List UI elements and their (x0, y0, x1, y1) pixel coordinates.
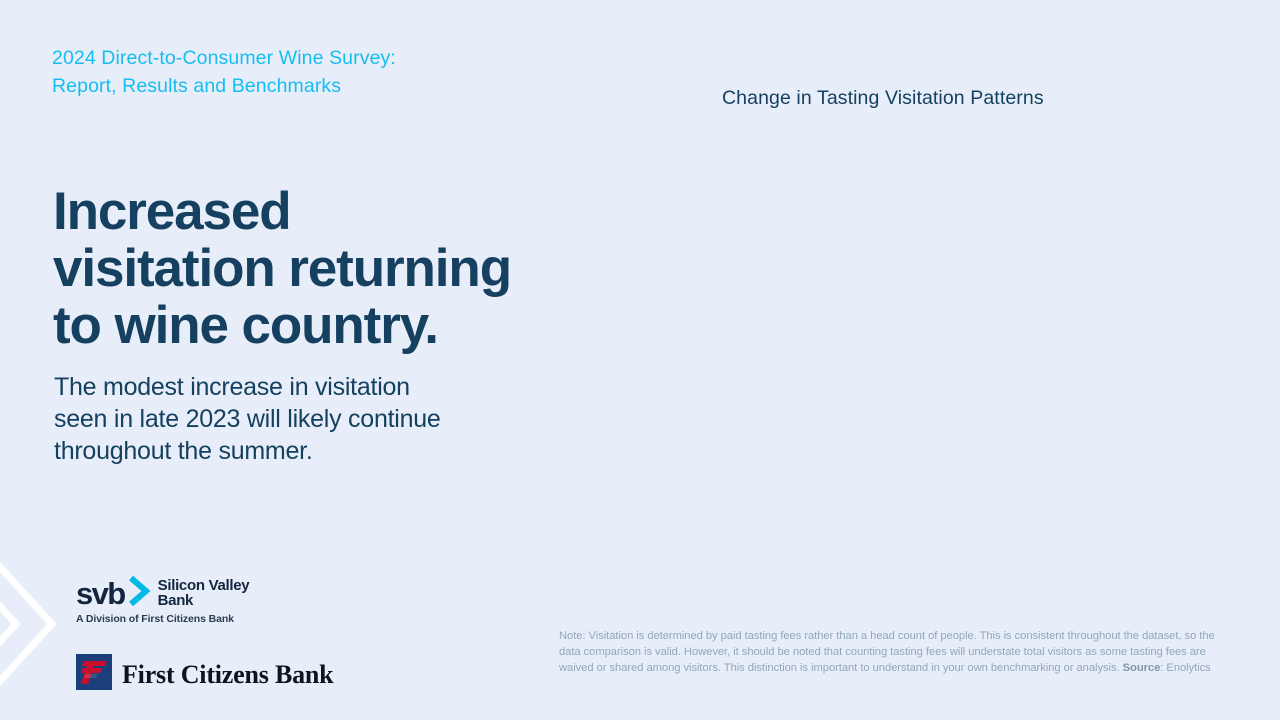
footnote-source-value: Enolytics (1166, 662, 1210, 674)
deck-text: The modest increase in visitation seen i… (54, 371, 504, 467)
slide-canvas: 2024 Direct-to-Consumer Wine Survey: Rep… (0, 0, 1280, 720)
headline-line-3: to wine country. (53, 297, 523, 354)
headline-line-1: Increased (53, 183, 523, 240)
deck-line-3: throughout the summer. (54, 435, 504, 467)
svb-tagline: A Division of First Citizens Bank (76, 613, 249, 625)
report-title-line-2: Report, Results and Benchmarks (52, 72, 522, 100)
footnote: Note: Visitation is determined by paid t… (559, 628, 1235, 677)
headline: Increased visitation returning to wine c… (53, 183, 523, 354)
report-title-line-1: 2024 Direct-to-Consumer Wine Survey: (52, 44, 522, 72)
footnote-body: Note: Visitation is determined by paid t… (559, 630, 1215, 674)
svb-name-line-1: Silicon Valley (158, 578, 250, 594)
first-citizens-wordmark: First Citizens Bank (122, 660, 333, 690)
chart-area (540, 130, 1240, 600)
headline-line-2: visitation returning (53, 240, 523, 297)
report-title: 2024 Direct-to-Consumer Wine Survey: Rep… (52, 44, 522, 100)
first-citizens-flag-icon (76, 654, 112, 695)
footnote-source-label: Source (1123, 662, 1161, 674)
slide-title: Change in Tasting Visitation Patterns (722, 85, 1044, 111)
svb-wordmark: svb (76, 578, 125, 609)
svb-full-name: Silicon Valley Bank (158, 578, 250, 609)
deck-line-1: The modest increase in visitation (54, 371, 504, 403)
svb-logo: svb Silicon Valley Bank A Division of Fi… (76, 576, 249, 626)
svb-name-line-2: Bank (158, 593, 250, 609)
svb-chevron-icon (128, 576, 150, 611)
deck-line-2: seen in late 2023 will likely continue (54, 403, 504, 435)
first-citizens-bank-logo: First Citizens Bank (76, 654, 333, 695)
